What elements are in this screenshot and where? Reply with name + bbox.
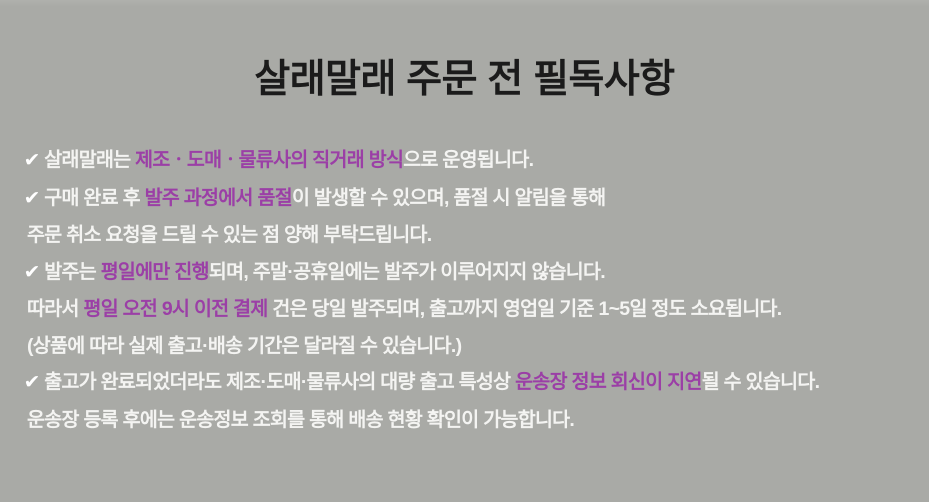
check-icon: ✔ (24, 255, 40, 292)
check-icon: ✔ (24, 143, 40, 180)
page-title: 살래말래 주문 전 필독사항 (0, 57, 929, 103)
notice-list: ✔살래말래는 제조ㆍ도매ㆍ물류사의 직거래 방식으로 운영됩니다.✔구매 완료 … (24, 142, 919, 438)
notice-text: 운송장 등록 후에는 운송정보 조회를 통해 배송 현황 확인이 가능합니다. (27, 409, 574, 431)
notice-text: 발주는 (44, 261, 100, 283)
notice-text-highlight: 운송장 정보 회신이 지연 (515, 371, 702, 393)
notice-text-highlight: 제조ㆍ도매ㆍ물류사의 직거래 방식 (135, 149, 403, 171)
notice-line: ✔살래말래는 제조ㆍ도매ㆍ물류사의 직거래 방식으로 운영됩니다. (24, 142, 919, 180)
notice-text: 건은 당일 발주되며, 출고까지 영업일 기준 1~5일 정도 소요됩니다. (268, 298, 782, 320)
check-icon: ✔ (24, 365, 40, 402)
notice-text: 으로 운영됩니다. (403, 149, 533, 171)
notice-line: ✔구매 완료 후 발주 과정에서 품절이 발생할 수 있으며, 품절 시 알림을… (24, 180, 919, 218)
notice-text: 살래말래는 (44, 149, 135, 171)
notice-line: 주문 취소 요청을 드릴 수 있는 점 양해 부탁드립니다. (24, 217, 919, 254)
notice-text-highlight: 발주 과정에서 품절 (145, 187, 292, 209)
notice-text: 구매 완료 후 (44, 187, 144, 209)
notice-line: (상품에 따라 실제 출고·배송 기간은 달라질 수 있습니다.) (24, 328, 919, 365)
notice-line: ✔발주는 평일에만 진행되며, 주말·공휴일에는 발주가 이루어지지 않습니다. (24, 254, 919, 292)
notice-text: 출고가 완료되었더라도 제조·도매·물류사의 대량 출고 특성상 (44, 371, 515, 393)
notice-card: 살래말래 주문 전 필독사항 ✔살래말래는 제조ㆍ도매ㆍ물류사의 직거래 방식으… (0, 0, 929, 502)
notice-line: 따라서 평일 오전 9시 이전 결제 건은 당일 발주되며, 출고까지 영업일 … (24, 291, 919, 328)
notice-text-highlight: 평일 오전 9시 이전 결제 (83, 298, 267, 320)
notice-text-highlight: 평일에만 진행 (101, 261, 209, 283)
notice-text: 따라서 (27, 298, 83, 320)
notice-text: 주문 취소 요청을 드릴 수 있는 점 양해 부탁드립니다. (27, 224, 432, 246)
notice-text: (상품에 따라 실제 출고·배송 기간은 달라질 수 있습니다.) (27, 335, 461, 357)
notice-text: 되며, 주말·공휴일에는 발주가 이루어지지 않습니다. (209, 261, 605, 283)
check-icon: ✔ (24, 181, 40, 218)
notice-text: 될 수 있습니다. (702, 371, 820, 393)
notice-text: 이 발생할 수 있으며, 품절 시 알림을 통해 (292, 187, 606, 209)
notice-line: ✔출고가 완료되었더라도 제조·도매·물류사의 대량 출고 특성상 운송장 정보… (24, 364, 919, 402)
notice-line: 운송장 등록 후에는 운송정보 조회를 통해 배송 현황 확인이 가능합니다. (24, 402, 919, 439)
